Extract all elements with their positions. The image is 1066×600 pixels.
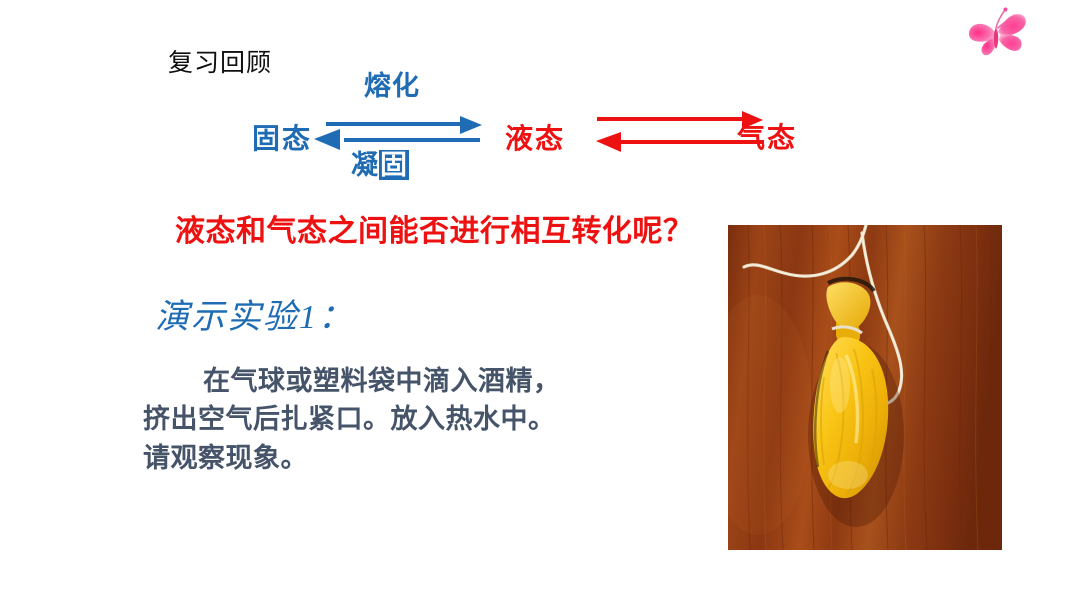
slide-canvas: 复习回顾 熔化 凝固 固态 液态 气态 液态和气态之间能否进行相互转化呢？ 演示… [0, 0, 1066, 600]
question-text: 液态和气态之间能否进行相互转化呢？ [175, 212, 694, 251]
instruction-line: 在气球或塑料袋中滴入酒精， [143, 362, 643, 400]
experiment-photo [728, 225, 1002, 550]
state-label-solid: 固态 [252, 125, 312, 153]
state-label-liquid: 液态 [505, 125, 565, 153]
transition-label-freeze: 凝固 [351, 152, 409, 179]
demo-experiment-heading: 演示实验1： [155, 298, 354, 339]
instruction-line: 挤出空气后扎紧口。放入热水中。 [143, 400, 643, 438]
phase-change-diagram: 熔化 凝固 固态 液态 气态 [0, 0, 1066, 210]
instruction-paragraph: 在气球或塑料袋中滴入酒精， 挤出空气后扎紧口。放入热水中。 请观察现象。 [143, 362, 643, 477]
freeze-char-1: 凝 [351, 150, 379, 180]
freeze-char-2-highlighted: 固 [379, 150, 409, 180]
state-label-gas: 气态 [737, 124, 797, 152]
instruction-line: 请观察现象。 [143, 439, 643, 477]
transition-label-melt: 熔化 [364, 73, 420, 100]
